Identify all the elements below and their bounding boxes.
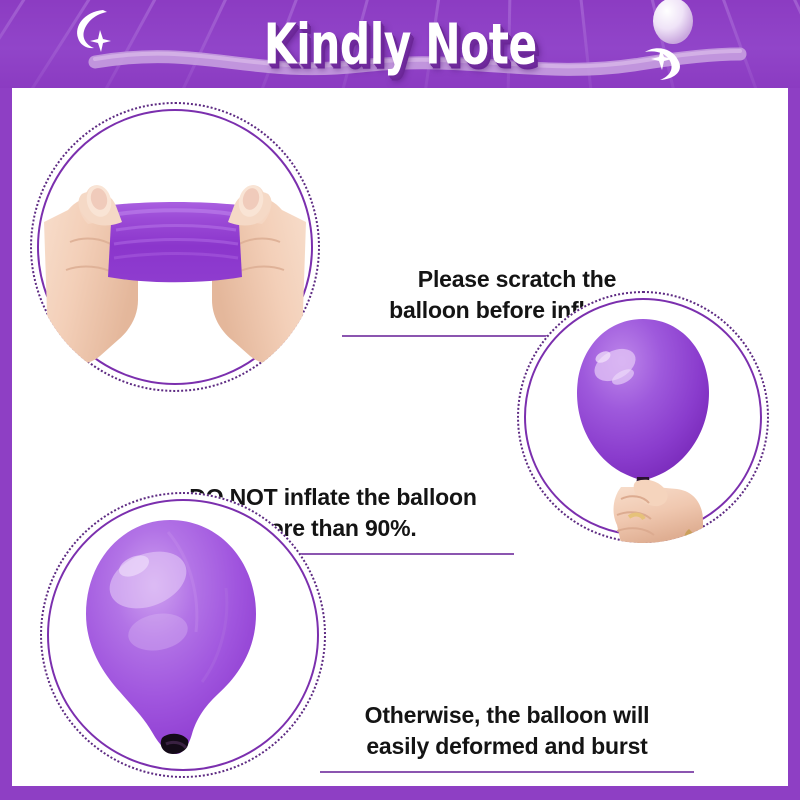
deformed-balloon: [86, 520, 256, 754]
content-card: Please scratch the balloon before inflat…: [12, 88, 788, 786]
page-title: Kindly Note: [0, 0, 800, 88]
stretch-balloon-artwork: [30, 102, 320, 392]
kindly-note-infographic: Kindly Note: [0, 0, 800, 800]
overinflated-balloon-artwork: [40, 492, 326, 778]
hand: [614, 480, 703, 543]
inflated-balloon: [577, 319, 709, 493]
figure-stretch-balloon: [30, 102, 320, 392]
header-banner: Kindly Note: [0, 0, 800, 88]
hand-holding-balloon-artwork: [517, 291, 769, 543]
note-otherwise-rule: [320, 771, 694, 773]
note-otherwise: Otherwise, the balloon will easily defor…: [320, 700, 694, 773]
stretched-balloon: [108, 202, 242, 282]
figure-hand-holding-balloon: [517, 291, 769, 543]
page-title-text: Kindly Note: [264, 11, 537, 77]
figure-overinflated-balloon: [40, 492, 326, 778]
note-otherwise-text: Otherwise, the balloon will easily defor…: [320, 700, 694, 762]
